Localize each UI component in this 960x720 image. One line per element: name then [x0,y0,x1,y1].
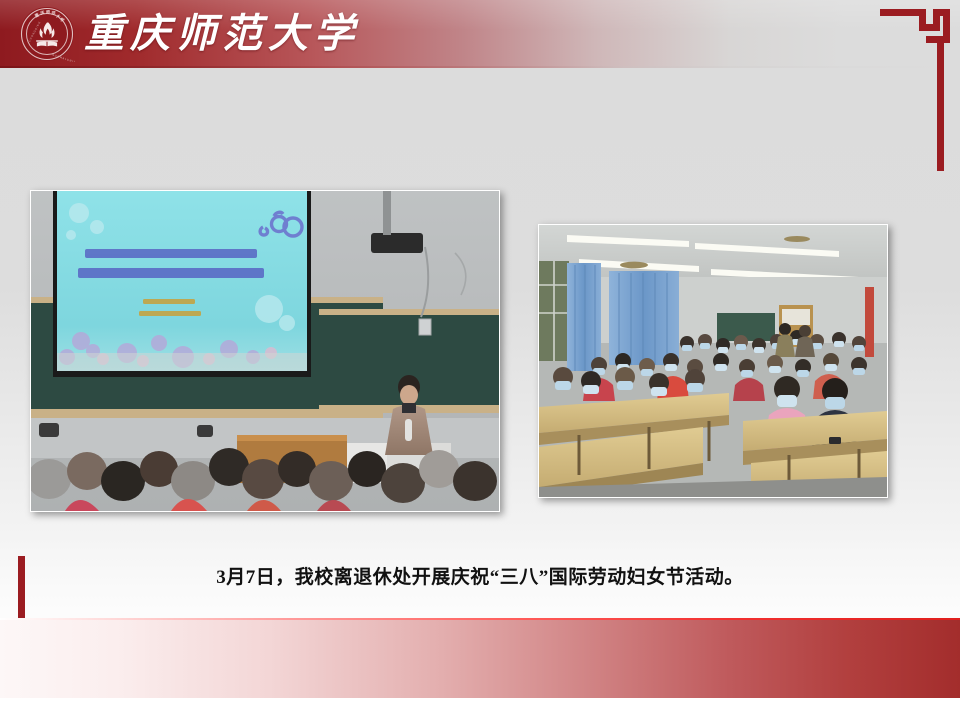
lecture-hall-photo [30,190,500,512]
university-title: 重庆师范大学 [84,7,360,61]
presentation-slide: 重 庆 师 范 大 学 C H O N G Q I N G N O R M A … [0,0,960,720]
university-emblem-icon: 重 庆 师 范 大 学 C H O N G Q I N G N O R M A … [19,6,75,62]
slide-caption: 3月7日，我校离退休处开展庆祝“三八”国际劳动妇女节活动。 [0,562,960,589]
bottom-band [0,620,960,698]
top-right-corner-ornament [880,9,950,176]
header-underline [0,66,960,68]
bottom-footer-strip [0,698,960,720]
audience-classroom-photo [538,224,888,498]
